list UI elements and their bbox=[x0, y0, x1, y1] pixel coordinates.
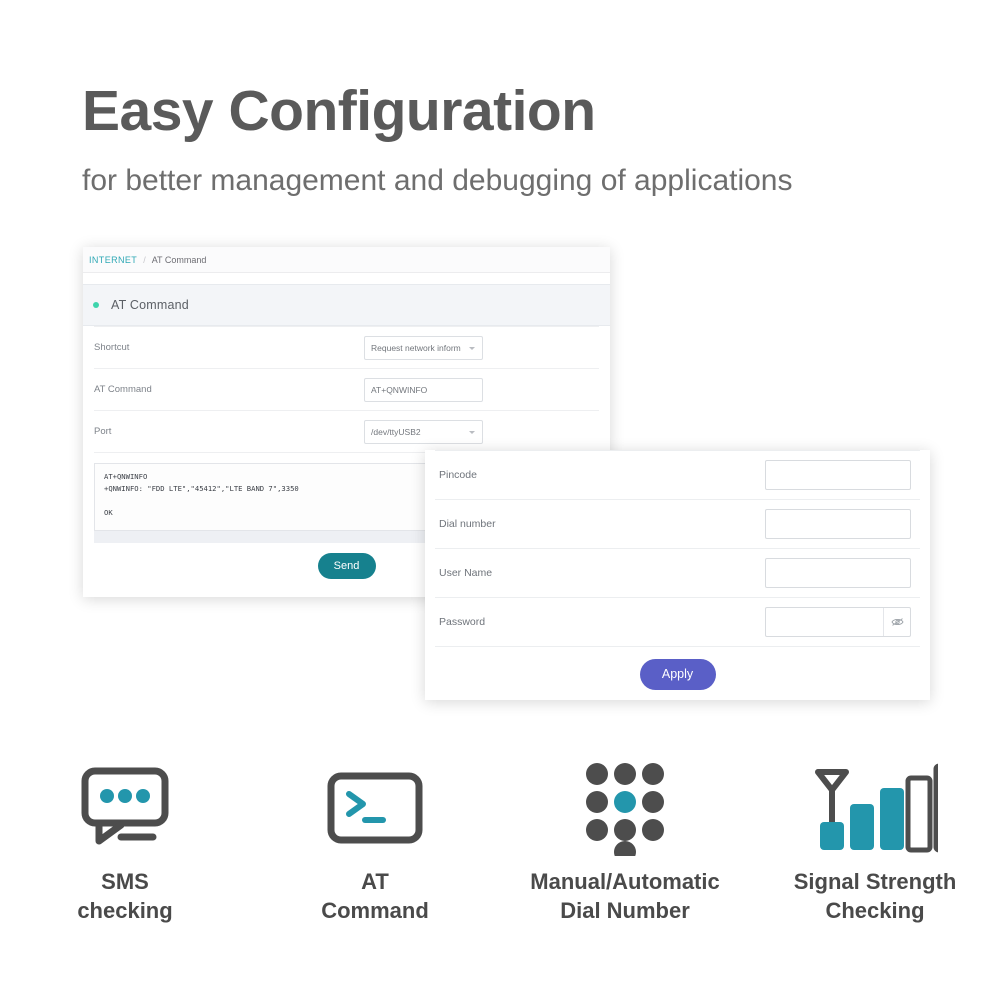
password-field[interactable] bbox=[766, 608, 883, 636]
form-row-at-command: AT Command AT+QNWINFO bbox=[94, 369, 599, 411]
breadcrumb: INTERNET / AT Command bbox=[83, 247, 610, 273]
feature-signal-strength: Signal Strength Checking bbox=[750, 760, 1000, 925]
breadcrumb-link-internet[interactable]: INTERNET bbox=[89, 255, 137, 265]
form-row-shortcut: Shortcut Request network inform bbox=[94, 326, 599, 369]
panel-title: AT Command bbox=[111, 298, 189, 312]
status-dot-icon bbox=[93, 302, 99, 308]
dialpad-dots-icon bbox=[583, 760, 667, 856]
shortcut-select[interactable]: Request network inform bbox=[364, 336, 483, 360]
form-row-pincode: Pincode bbox=[435, 450, 920, 500]
feature-label-at-command: AT Command bbox=[321, 868, 429, 925]
panel-spacer bbox=[83, 273, 610, 284]
label-port: Port bbox=[94, 426, 364, 437]
form-row-password: Password bbox=[435, 598, 920, 647]
page-title: Easy Configuration bbox=[82, 80, 596, 143]
label-password: Password bbox=[435, 616, 765, 628]
breadcrumb-current: AT Command bbox=[152, 255, 207, 265]
label-user-name: User Name bbox=[435, 567, 765, 579]
signal-bars-icon bbox=[812, 760, 938, 856]
pincode-input[interactable] bbox=[765, 460, 911, 490]
label-pincode: Pincode bbox=[435, 469, 765, 481]
at-command-input-value: AT+QNWINFO bbox=[371, 385, 427, 395]
feature-label-sms-checking: SMS checking bbox=[77, 868, 172, 925]
at-command-input[interactable]: AT+QNWINFO bbox=[364, 378, 483, 402]
form-row-user-name: User Name bbox=[435, 549, 920, 598]
apply-button[interactable]: Apply bbox=[640, 659, 716, 690]
feature-label-dial-number: Manual/Automatic Dial Number bbox=[530, 868, 719, 925]
user-name-input[interactable] bbox=[765, 558, 911, 588]
form-row-port: Port /dev/ttyUSB2 bbox=[94, 411, 599, 453]
sms-bubble-icon bbox=[77, 760, 173, 856]
port-select-value: /dev/ttyUSB2 bbox=[371, 427, 421, 437]
feature-label-signal-strength: Signal Strength Checking bbox=[794, 868, 957, 925]
breadcrumb-separator: / bbox=[143, 255, 146, 265]
feature-dial-number: Manual/Automatic Dial Number bbox=[500, 760, 750, 925]
dial-settings-panel: Pincode Dial number User Name Password A… bbox=[425, 450, 930, 700]
form-row-dial-number: Dial number bbox=[435, 500, 920, 549]
dial-number-input[interactable] bbox=[765, 509, 911, 539]
shortcut-select-value: Request network inform bbox=[371, 343, 461, 353]
at-command-form: Shortcut Request network inform AT Comma… bbox=[83, 326, 610, 453]
feature-sms-checking: SMS checking bbox=[0, 760, 250, 925]
terminal-prompt-icon bbox=[325, 760, 425, 856]
feature-row: SMS checking AT Command bbox=[0, 760, 1000, 925]
apply-button-row: Apply bbox=[435, 647, 920, 701]
feature-at-command: AT Command bbox=[250, 760, 500, 925]
label-dial-number: Dial number bbox=[435, 518, 765, 530]
label-at-command: AT Command bbox=[94, 384, 364, 395]
panel-header: AT Command bbox=[83, 284, 610, 326]
page-subtitle: for better management and debugging of a… bbox=[82, 162, 793, 200]
port-select[interactable]: /dev/ttyUSB2 bbox=[364, 420, 483, 444]
label-shortcut: Shortcut bbox=[94, 342, 364, 353]
send-button[interactable]: Send bbox=[318, 553, 376, 579]
eye-icon[interactable] bbox=[883, 608, 910, 636]
password-input[interactable] bbox=[765, 607, 911, 637]
